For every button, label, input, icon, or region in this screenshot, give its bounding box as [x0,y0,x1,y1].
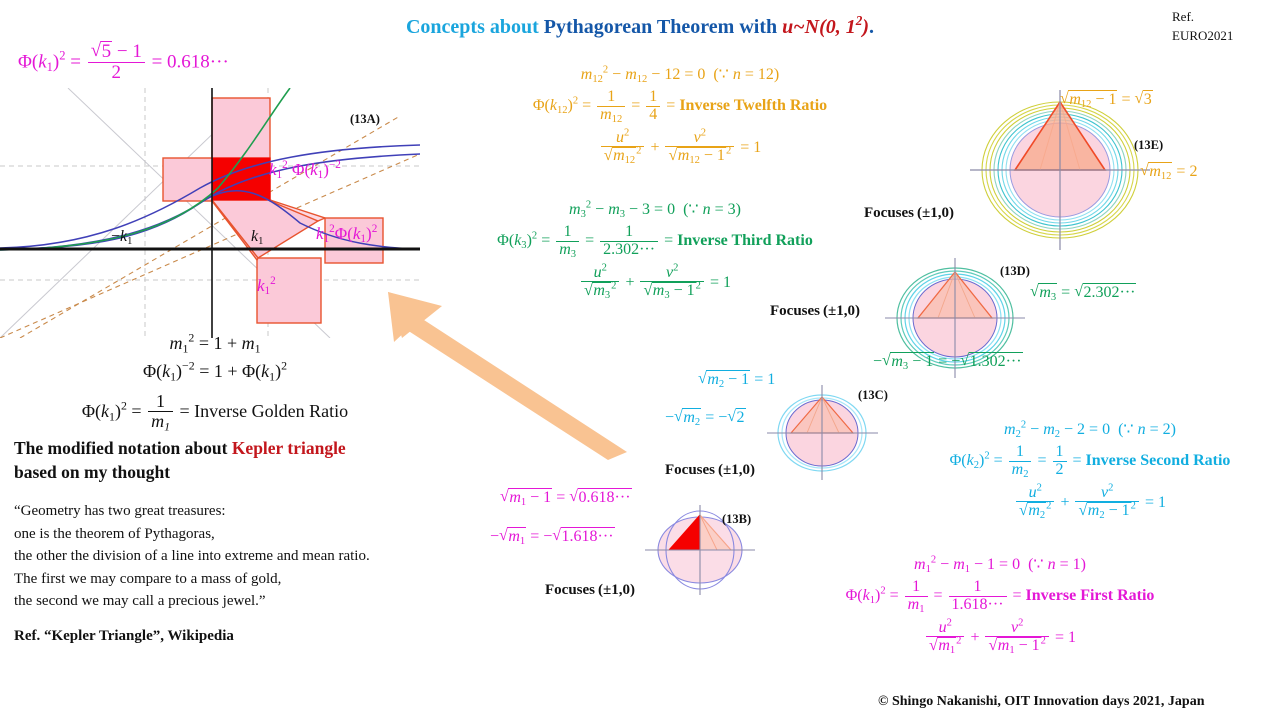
figure-13d-label-bottom: −m3 − 1 = −1.302··· [873,352,1023,371]
square-label-a: k12 Φ(k1)−2 [269,160,341,180]
inverse-golden-ratio-text: Inverse Golden Ratio [194,401,348,421]
phi-n2: Φ(k2)2 = 1m2 = 12 = Inverse Second Ratio [905,444,1275,479]
kepler-triangle-text: Kepler triangle [232,438,346,458]
axis-label-neg-k1: −k1 [111,228,132,246]
figure-13c-focuses: Focuses (±1,0) [665,462,755,479]
math-block-n2: m22 − m2 − 2 = 0 (∵ n = 2) Φ(k2)2 = 1m2 … [905,418,1275,520]
math-block-n12: m122 − m12 − 12 = 0 (∵ n = 12) Φ(k12)2 =… [470,63,890,165]
quadratic-n2: m22 − m2 − 2 = 0 (∵ n = 2) [905,418,1275,442]
figure-13c-tag: (13C) [858,388,888,403]
kepler-quote: “Geometry has two great treasures: one i… [14,500,370,613]
figure-13e-label-top: m12 − 1 = 3 [1060,90,1153,109]
ratio-name-n12: Inverse Twelfth Ratio [679,97,827,114]
title-part-2: Pythagorean Theorem with [544,16,782,38]
quadratic-n12: m122 − m12 − 12 = 0 (∵ n = 12) [470,63,890,87]
axis-label-k1: k1 [251,228,263,246]
quote-line-0: “Geometry has two great treasures: [14,500,370,523]
ellipse-eq-n3: u2m32 + v2m3 − 12 = 1 [440,265,870,301]
heading-text-b: based on my thought [14,462,170,482]
quote-line-3: The first we may compare to a mass of go… [14,568,370,591]
phi-n12: Φ(k12)2 = 1m12 = 14 = Inverse Twelfth Ra… [470,89,890,124]
figure-13e-ellipse [960,90,1160,250]
math-block-n1: m12 − m1 − 1 = 0 (∵ n = 1) Φ(k1)2 = 1m1 … [800,553,1200,655]
figure-13b-label-left: −m1 = −1.618··· [490,527,615,546]
quote-line-2: the other the division of a line into ex… [14,545,370,568]
eq3-numerator: 1 [148,392,173,411]
quadratic-n3: m32 − m3 − 3 = 0 (∵ n = 3) [440,198,870,222]
equation-m1: m12 = 1 + m1 [0,330,430,358]
phi-n3: Φ(k3)2 = 1m3 = 12.302··· = Inverse Third… [440,224,870,259]
page-title: Concepts about Pythagorean Theorem with … [0,16,1280,39]
ellipse-eq-n1: u2m12 + v2m1 − 12 = 1 [800,620,1200,656]
math-block-n3: m32 − m3 − 3 = 0 (∵ n = 3) Φ(k3)2 = 1m3 … [440,198,870,300]
ellipse-eq-n12: u2m122 + v2m12 − 12 = 1 [470,130,890,166]
figure-13b-label-top: m1 − 1 = 0.618··· [500,488,632,507]
quote-line-4: the second we may call a precious jewel.… [14,590,370,613]
figure-13e-tag: (13E) [1134,138,1163,153]
pointer-arrow-icon [380,280,630,460]
figure-13e-label-right: m12 = 2 [1140,162,1197,181]
figure-13a-tag: (13A) [350,112,380,127]
ref-line-2: EURO2021 [1172,27,1233,46]
figure-13d-focuses: Focuses (±1,0) [770,303,860,320]
figure-13e-focuses: Focuses (±1,0) [864,205,954,222]
ratio-name-n3: Inverse Third Ratio [677,232,813,249]
reference-wikipedia: Ref. “Kepler Triangle”, Wikipedia [14,628,234,645]
equation-phi: Φ(k1)−2 = 1 + Φ(k1)2 [0,358,430,386]
heading-text-a: The modified notation about [14,438,232,458]
copyright-notice: © Shingo Nakanishi, OIT Innovation days … [878,694,1205,710]
phi-n1: Φ(k1)2 = 1m1 = 11.618··· = Inverse First… [800,579,1200,614]
reference-top-right: Ref. EURO2021 [1172,8,1233,46]
golden-ratio-formula: Φ(k1)2 = 5 − 12 = 0.618··· [18,41,229,83]
square-label-b: k12Φ(k1)2 [316,224,377,244]
quadratic-n1: m12 − m1 − 1 = 0 (∵ n = 1) [800,553,1200,577]
ref-line-1: Ref. [1172,8,1233,27]
figure-13d-label-right: m3 = 2.302··· [1030,283,1136,302]
title-period: . [869,16,874,38]
square-label-c: k12 [257,276,276,296]
figure-13c-label-top: m2 − 1 = 1 [698,370,775,389]
left-equations: m12 = 1 + m1 Φ(k1)−2 = 1 + Φ(k1)2 Φ(k1)2… [0,330,430,431]
modified-notation-heading: The modified notation about Kepler trian… [14,437,346,484]
figure-13d-tag: (13D) [1000,264,1030,279]
figure-13b-focuses: Focuses (±1,0) [545,582,635,599]
ratio-name-n2: Inverse Second Ratio [1086,452,1231,469]
title-part-1: Concepts about [406,16,544,38]
ellipse-eq-n2: u2m22 + v2m2 − 12 = 1 [905,485,1275,521]
figure-13b-tag: (13B) [722,512,751,527]
title-part-3: u~N(0, 12) [782,16,869,38]
ratio-name-n1: Inverse First Ratio [1026,587,1155,604]
equation-inverse-golden: Φ(k1)2 = 1m1 = Inverse Golden Ratio [0,392,430,431]
figure-13c-label-left: −m2 = −2 [665,408,746,427]
quote-line-1: one is the theorem of Pythagoras, [14,523,370,546]
